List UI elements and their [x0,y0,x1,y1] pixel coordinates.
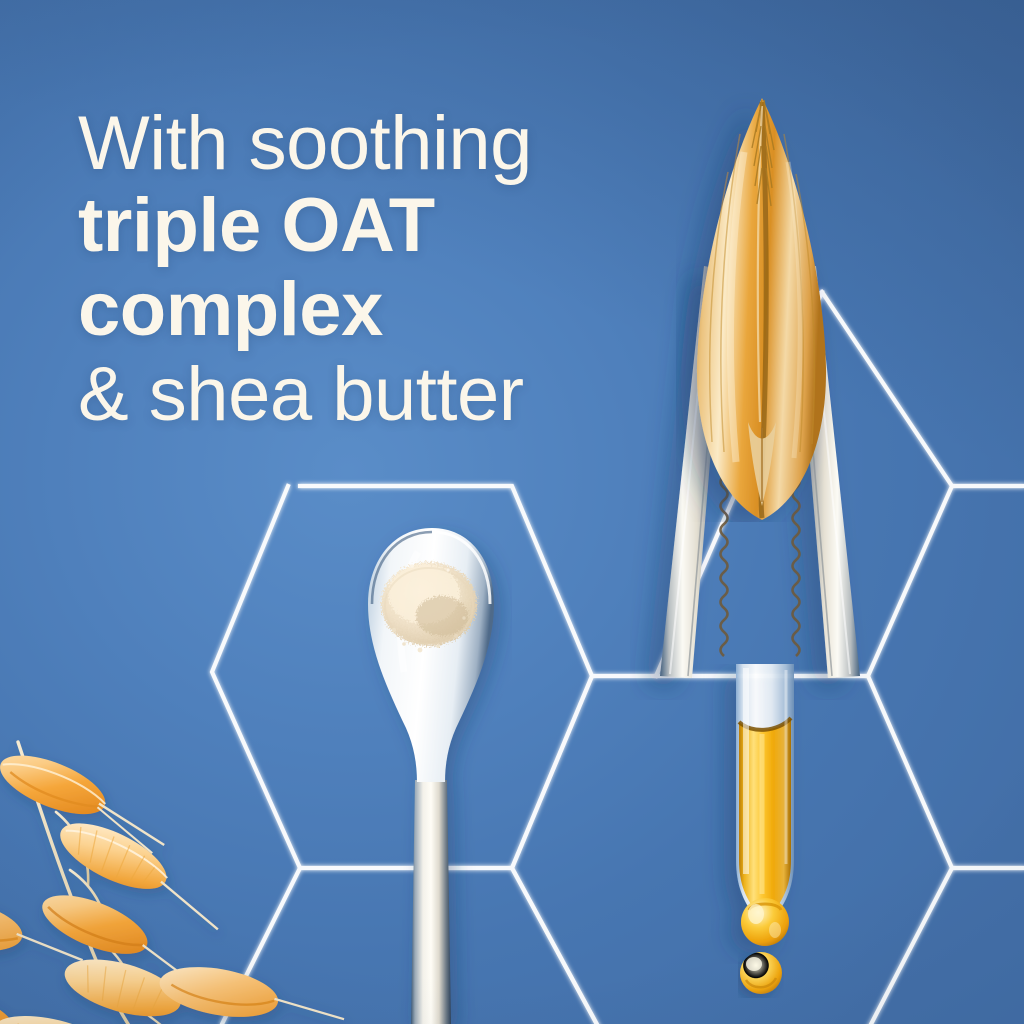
headline-line-3: complex [78,268,738,352]
headline-line-2: triple OAT [78,184,738,268]
headline-block: With soothing triple OAT complex & shea … [78,104,738,438]
headline-line-1: With soothing [78,104,738,184]
headline-line-4: & shea butter [78,352,738,438]
product-banner: With soothing triple OAT complex & shea … [0,0,1024,1024]
